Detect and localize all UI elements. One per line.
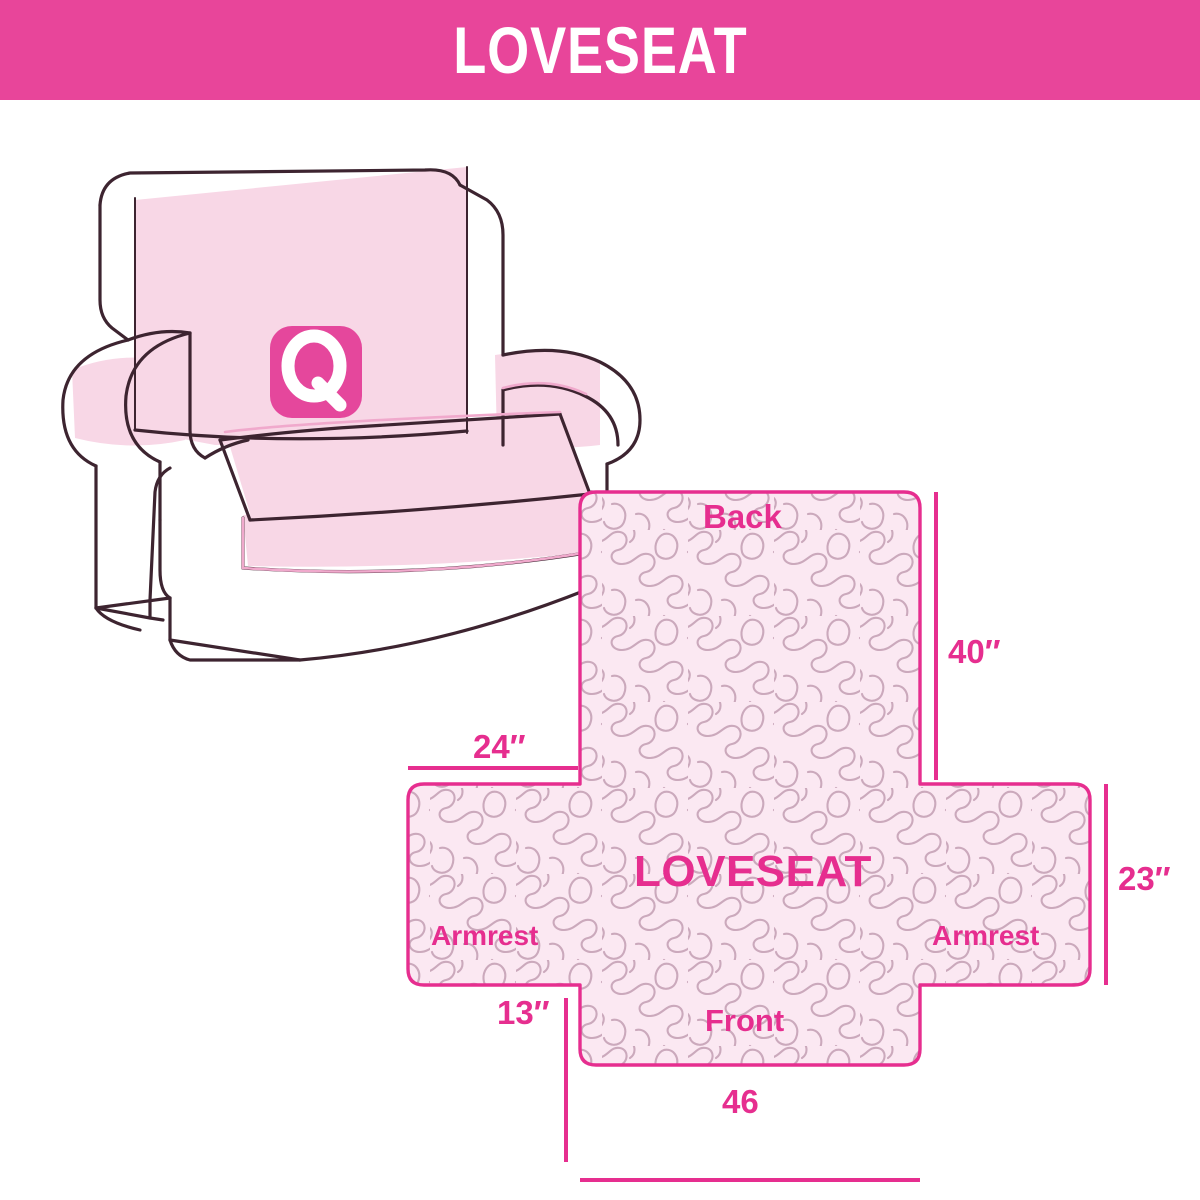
dimension-label-13: 13″ <box>497 996 550 1029</box>
panel-label-front: Front <box>705 1005 784 1036</box>
panel-label-armrest-left: Armrest <box>431 922 538 950</box>
panel-label-center: LOVESEAT <box>634 850 872 894</box>
panel-label-armrest-right: Armrest <box>932 922 1039 950</box>
page-title: LOVESEAT <box>453 17 747 83</box>
dimension-label-23: 23″ <box>1118 862 1171 895</box>
panel-label-back: Back <box>703 500 782 533</box>
dimension-label-46: 46 <box>722 1085 759 1118</box>
flat-pattern-shape <box>400 485 1100 1075</box>
header-banner: LOVESEAT <box>0 0 1200 100</box>
loveseat-illustration <box>0 100 1200 1200</box>
q-logo-badge <box>270 326 362 418</box>
diagram-stage: Back LOVESEAT Armrest Armrest Front 40″ … <box>0 100 1200 1200</box>
dimension-label-24: 24″ <box>473 730 526 763</box>
dimension-label-40: 40″ <box>948 635 1001 668</box>
